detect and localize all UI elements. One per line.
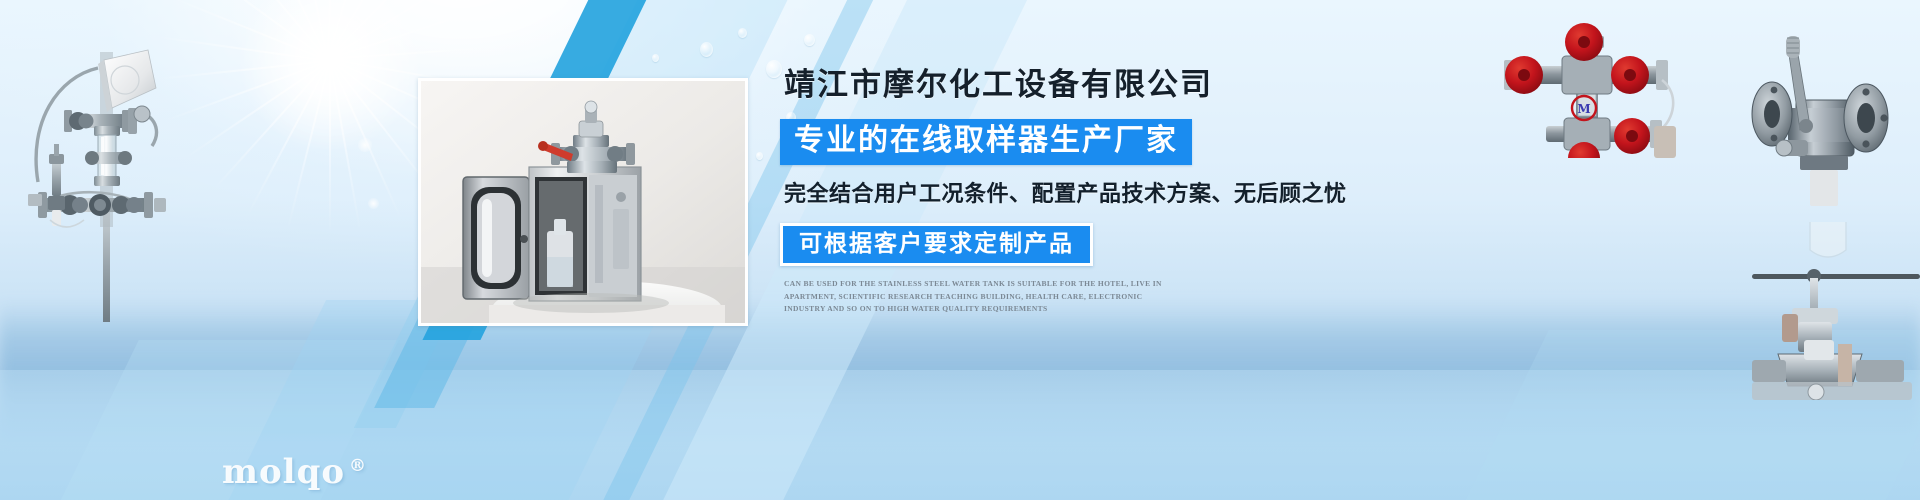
lens-flare-dot [358,138,372,152]
right-lever-valve-image [1726,14,1920,209]
subline-text: 完全结合用户工况条件、配置产品技术方案、无后顾之忧 [780,181,1400,207]
headline-highlight: 专业的在线取样器生产厂家 [780,119,1192,165]
svg-text:M: M [1577,102,1590,116]
watermark-text: molqo [222,452,345,492]
cta-badge: 可根据客户要求定制产品 [780,223,1093,266]
left-product-image [8,22,183,322]
lens-flare-dot [368,198,379,209]
center-product-photo-inner [421,81,745,323]
promo-banner: M [0,0,1920,500]
english-paragraph: CAN BE USED FOR THE STAINLESS STEEL WATE… [780,278,1180,315]
copy-block: 靖江市摩尔化工设备有限公司 专业的在线取样器生产厂家 完全结合用户工况条件、配置… [780,70,1400,316]
company-name: 靖江市摩尔化工设备有限公司 [780,70,1400,101]
right-bottom-product-image [1752,222,1920,400]
watermark-registered-mark: ® [349,456,367,476]
center-product-photo [418,78,748,326]
watermark-logo: molqo® [222,452,367,492]
right-top-product-image: M [1484,18,1694,158]
